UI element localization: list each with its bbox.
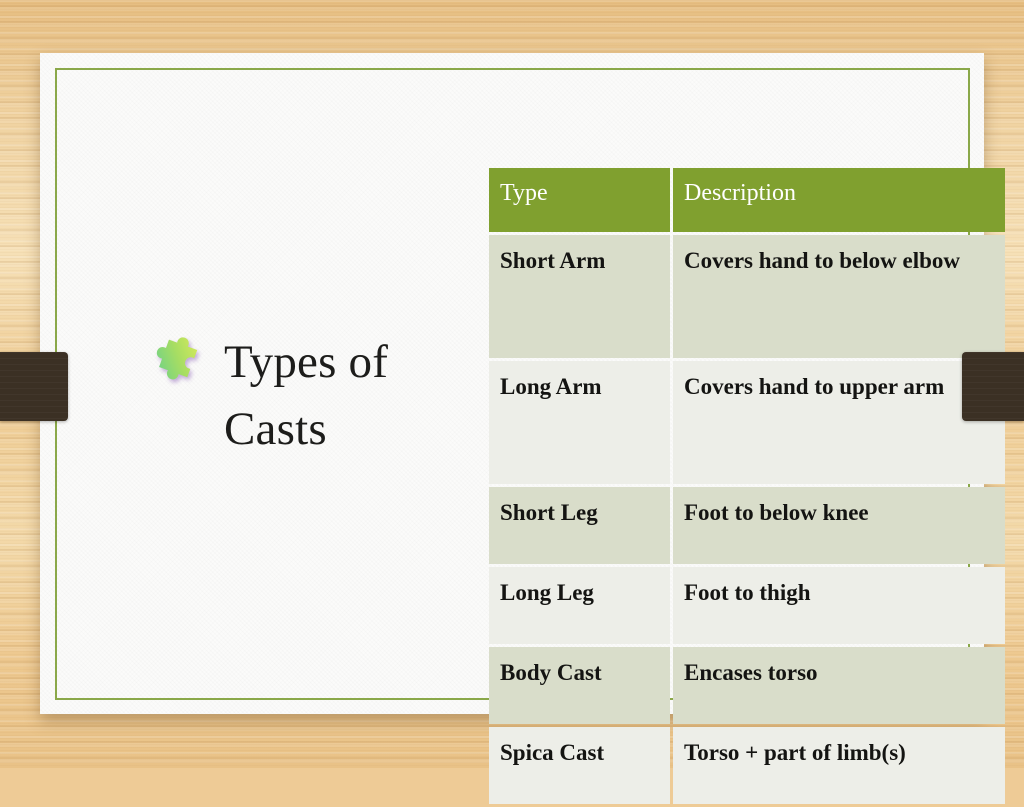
- page-title-line-2: Casts: [224, 403, 327, 455]
- table-row: Spica Cast Torso + part of limb(s): [489, 727, 1005, 804]
- cell-type: Long Arm: [489, 361, 670, 484]
- column-header-description: Description: [673, 168, 1005, 232]
- right-edge-strap: [962, 352, 1024, 421]
- table-row: Body Cast Encases torso: [489, 647, 1005, 724]
- page-title-line-1: Types of: [224, 336, 388, 388]
- cell-type: Spica Cast: [489, 727, 670, 804]
- left-edge-strap: [0, 352, 68, 421]
- cell-description: Covers hand to upper arm: [673, 361, 1005, 484]
- cell-description: Encases torso: [673, 647, 1005, 724]
- table-header-row: Type Description: [489, 168, 1005, 232]
- cell-description: Foot to thigh: [673, 567, 1005, 644]
- cast-types-table: Type Description Short Arm Covers hand t…: [486, 165, 1008, 807]
- cell-type: Long Leg: [489, 567, 670, 644]
- table-row: Long Leg Foot to thigh: [489, 567, 1005, 644]
- table-header: Type Description: [489, 168, 1005, 232]
- table-row: Long Arm Covers hand to upper arm: [489, 361, 1005, 484]
- slide-panel: Types of Casts Type Description Short Ar…: [40, 53, 984, 714]
- cell-type: Body Cast: [489, 647, 670, 724]
- puzzle-piece-icon: [148, 335, 210, 397]
- page-title: Types of Casts: [224, 329, 388, 462]
- cell-description: Covers hand to below elbow: [673, 235, 1005, 358]
- column-header-type: Type: [489, 168, 670, 232]
- table-body: Short Arm Covers hand to below elbow Lon…: [489, 235, 1005, 804]
- cell-type: Short Leg: [489, 487, 670, 564]
- slide-title-block: Types of Casts: [148, 329, 468, 462]
- table-row: Short Leg Foot to below knee: [489, 487, 1005, 564]
- cell-description: Foot to below knee: [673, 487, 1005, 564]
- cell-type: Short Arm: [489, 235, 670, 358]
- cell-description: Torso + part of limb(s): [673, 727, 1005, 804]
- table-row: Short Arm Covers hand to below elbow: [489, 235, 1005, 358]
